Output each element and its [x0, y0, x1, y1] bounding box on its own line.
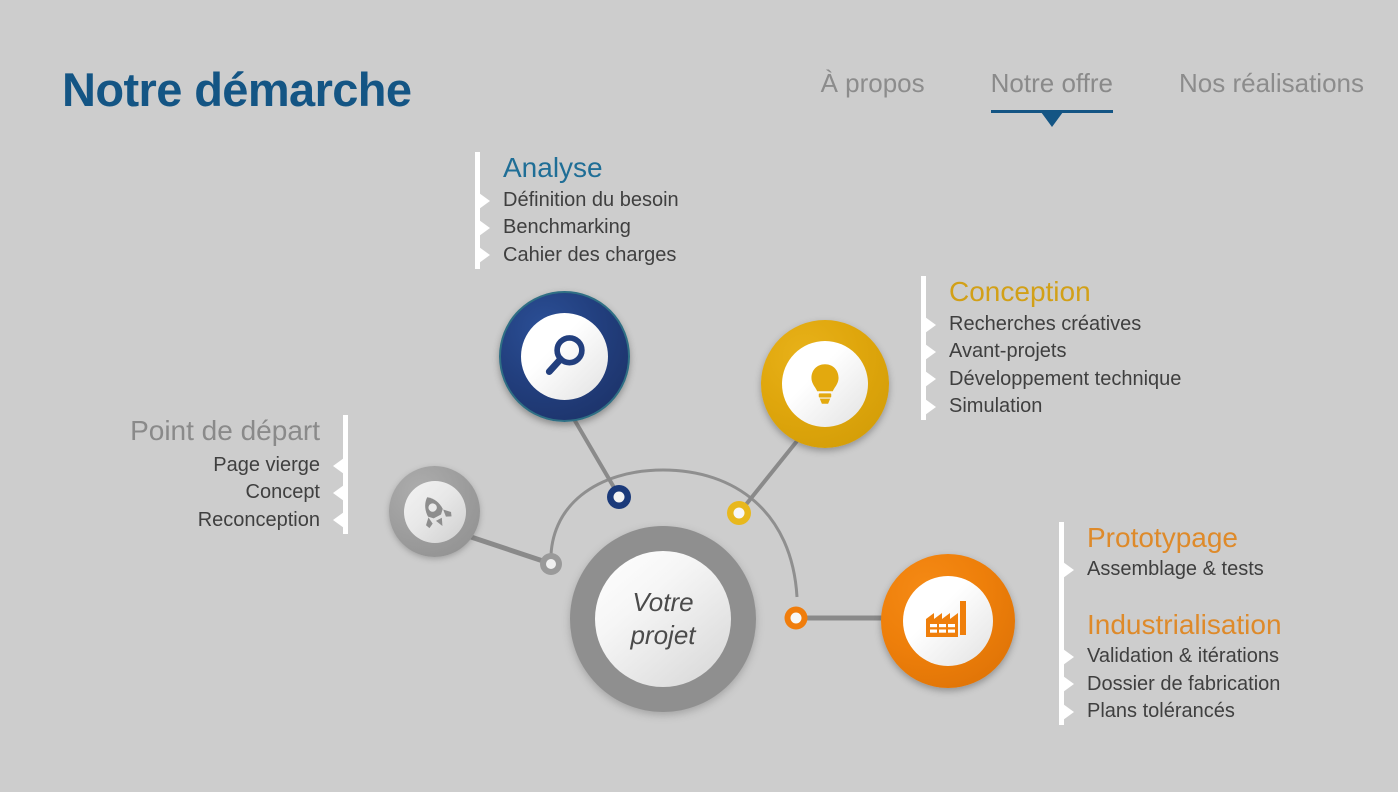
node-analyse [607, 485, 631, 509]
icon-bubble-inner [521, 313, 608, 400]
nav-item-notre-offre[interactable]: Notre offre [991, 68, 1113, 109]
nav-label: Notre offre [991, 68, 1113, 98]
list-item: Page vierge [118, 452, 320, 479]
center-label-line1: Votre [632, 587, 693, 618]
list-item: Simulation [949, 393, 1181, 420]
list-item: Concept [118, 479, 320, 506]
icon-bubble-industrialisation[interactable] [881, 554, 1015, 688]
group-conception: Conception Recherches créatives Avant-pr… [913, 276, 1181, 420]
group-title-industrialisation: Industrialisation [1087, 609, 1282, 641]
group-prototypage-industrialisation: Prototypage Assemblage & tests Industria… [1051, 522, 1282, 725]
group-point-de-depart: Point de départ Page vierge Concept Reco… [118, 415, 356, 534]
nav-active-caret-icon [1041, 112, 1063, 127]
group-item-list: Page vierge Concept Reconception [118, 452, 320, 534]
list-item: Dossier de fabrication [1087, 671, 1282, 698]
factory-icon [920, 593, 976, 649]
group-item-list: Définition du besoin Benchmarking Cahier… [503, 187, 679, 269]
page-title: Notre démarche [62, 62, 411, 117]
icon-bubble-analyse[interactable] [499, 291, 630, 422]
node-industrialisation [785, 607, 808, 630]
icon-bubble-inner [903, 576, 993, 666]
list-item: Reconception [118, 507, 320, 534]
icon-bubble-inner [404, 481, 466, 543]
nav-label: À propos [821, 68, 925, 98]
center-label-line2: projet [630, 620, 695, 651]
rocket-icon [415, 492, 455, 532]
list-item: Validation & itérations [1087, 643, 1282, 670]
group-rule [1059, 522, 1064, 725]
group-item-list: Recherches créatives Avant-projets Dével… [949, 311, 1181, 421]
main-navigation: À propos Notre offre Nos réalisations [821, 68, 1364, 109]
group-analyse: Analyse Définition du besoin Benchmarkin… [467, 152, 679, 269]
group-item-list-prototypage: Assemblage & tests [1087, 556, 1282, 583]
slide-canvas: Notre démarche À propos Notre offre Nos … [0, 0, 1398, 792]
list-item: Avant-projets [949, 338, 1181, 365]
node-conception [727, 501, 751, 525]
list-item: Définition du besoin [503, 187, 679, 214]
list-item: Plans tolérancés [1087, 698, 1282, 725]
node-start [540, 553, 562, 575]
icon-bubble-start[interactable] [389, 466, 480, 557]
list-item: Développement technique [949, 366, 1181, 393]
magnifier-icon [538, 330, 592, 384]
nav-label: Nos réalisations [1179, 68, 1364, 98]
list-item: Recherches créatives [949, 311, 1181, 338]
center-project-inner: Votre projet [595, 551, 731, 687]
group-title: Conception [949, 276, 1181, 308]
group-item-list-industrialisation: Validation & itérations Dossier de fabri… [1087, 643, 1282, 725]
group-title: Analyse [503, 152, 679, 184]
nav-item-nos-realisations[interactable]: Nos réalisations [1179, 68, 1364, 109]
group-title: Point de départ [118, 415, 320, 447]
icon-bubble-inner [782, 341, 868, 427]
list-item: Benchmarking [503, 214, 679, 241]
list-item: Cahier des charges [503, 242, 679, 269]
group-title-prototypage: Prototypage [1087, 522, 1282, 554]
nav-item-a-propos[interactable]: À propos [821, 68, 925, 109]
center-project-circle: Votre projet [570, 526, 756, 712]
icon-bubble-conception[interactable] [761, 320, 889, 448]
lightbulb-icon [800, 359, 850, 409]
list-item: Assemblage & tests [1087, 556, 1282, 583]
